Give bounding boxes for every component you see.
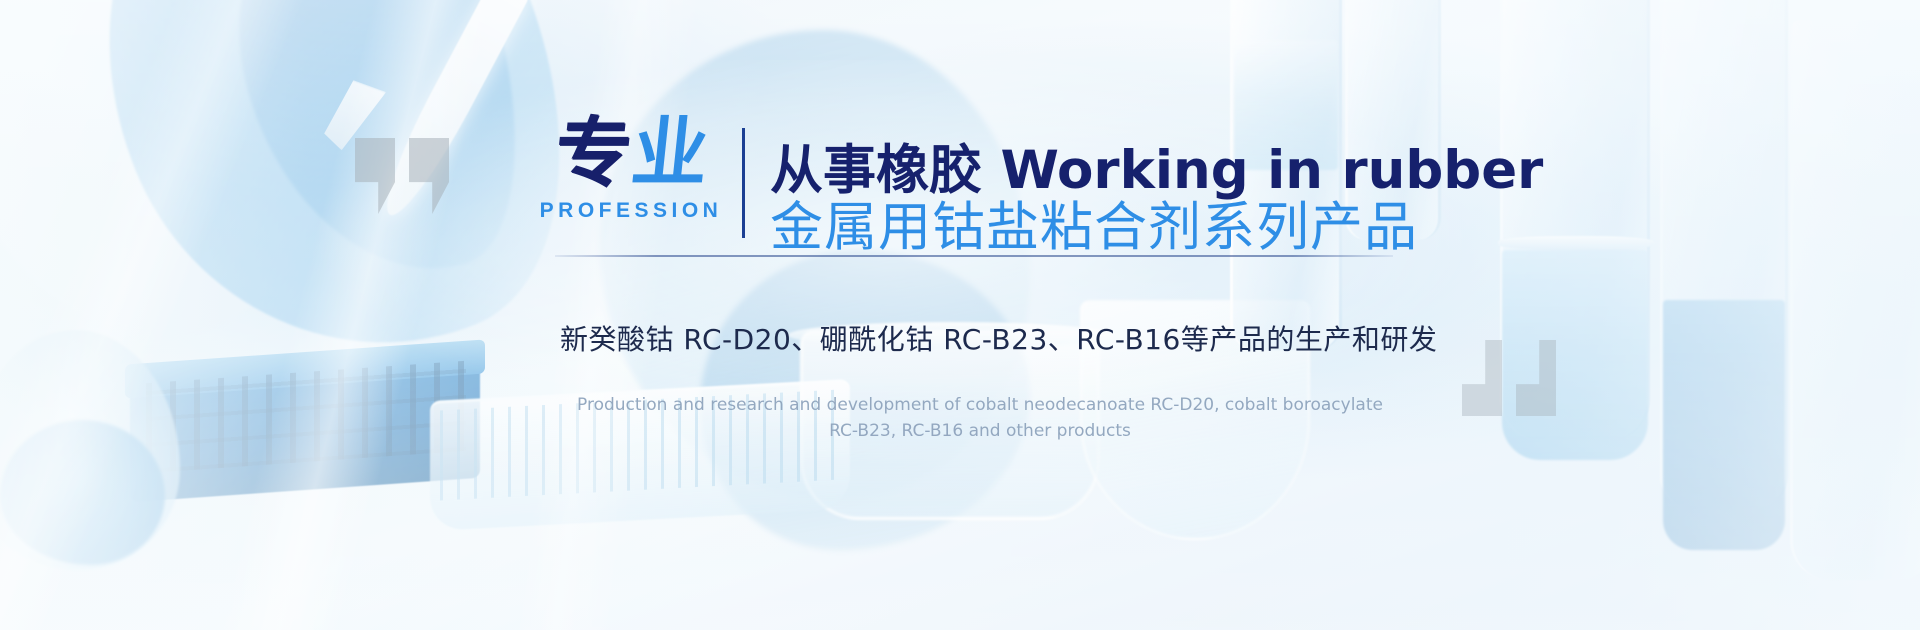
logo-headline-divider [742,128,745,238]
open-quote-glyph-left [355,138,395,214]
close-quote-mark-icon [1462,340,1556,416]
open-quote-glyph-right [409,138,449,214]
close-quote-glyph-right [1516,340,1556,416]
horizontal-divider [555,255,1393,257]
hero-banner: 专 业 PROFESSION 从事橡胶 Working in rubber 金属… [0,0,1920,630]
headline-secondary: 金属用钴盐粘合剂系列产品 [770,185,1418,261]
background-haze-overlay [0,0,1920,630]
open-quote-mark-icon [355,138,449,214]
close-quote-glyph-left [1462,340,1502,416]
logo-chinese-characters: 专 业 [555,120,707,187]
logo-subtext-profession: PROFESSION [540,199,723,223]
logo-char-ye: 业 [628,120,710,187]
logo-char-zhuan: 专 [551,120,633,187]
background-photo [0,0,1920,630]
description-english: Production and research and development … [560,392,1400,445]
subtitle-products: 新癸酸钴 RC-D20、硼酰化钴 RC-B23、RC-B16等产品的生产和研发 [560,318,1390,358]
profession-logo: 专 业 PROFESSION [540,120,722,240]
